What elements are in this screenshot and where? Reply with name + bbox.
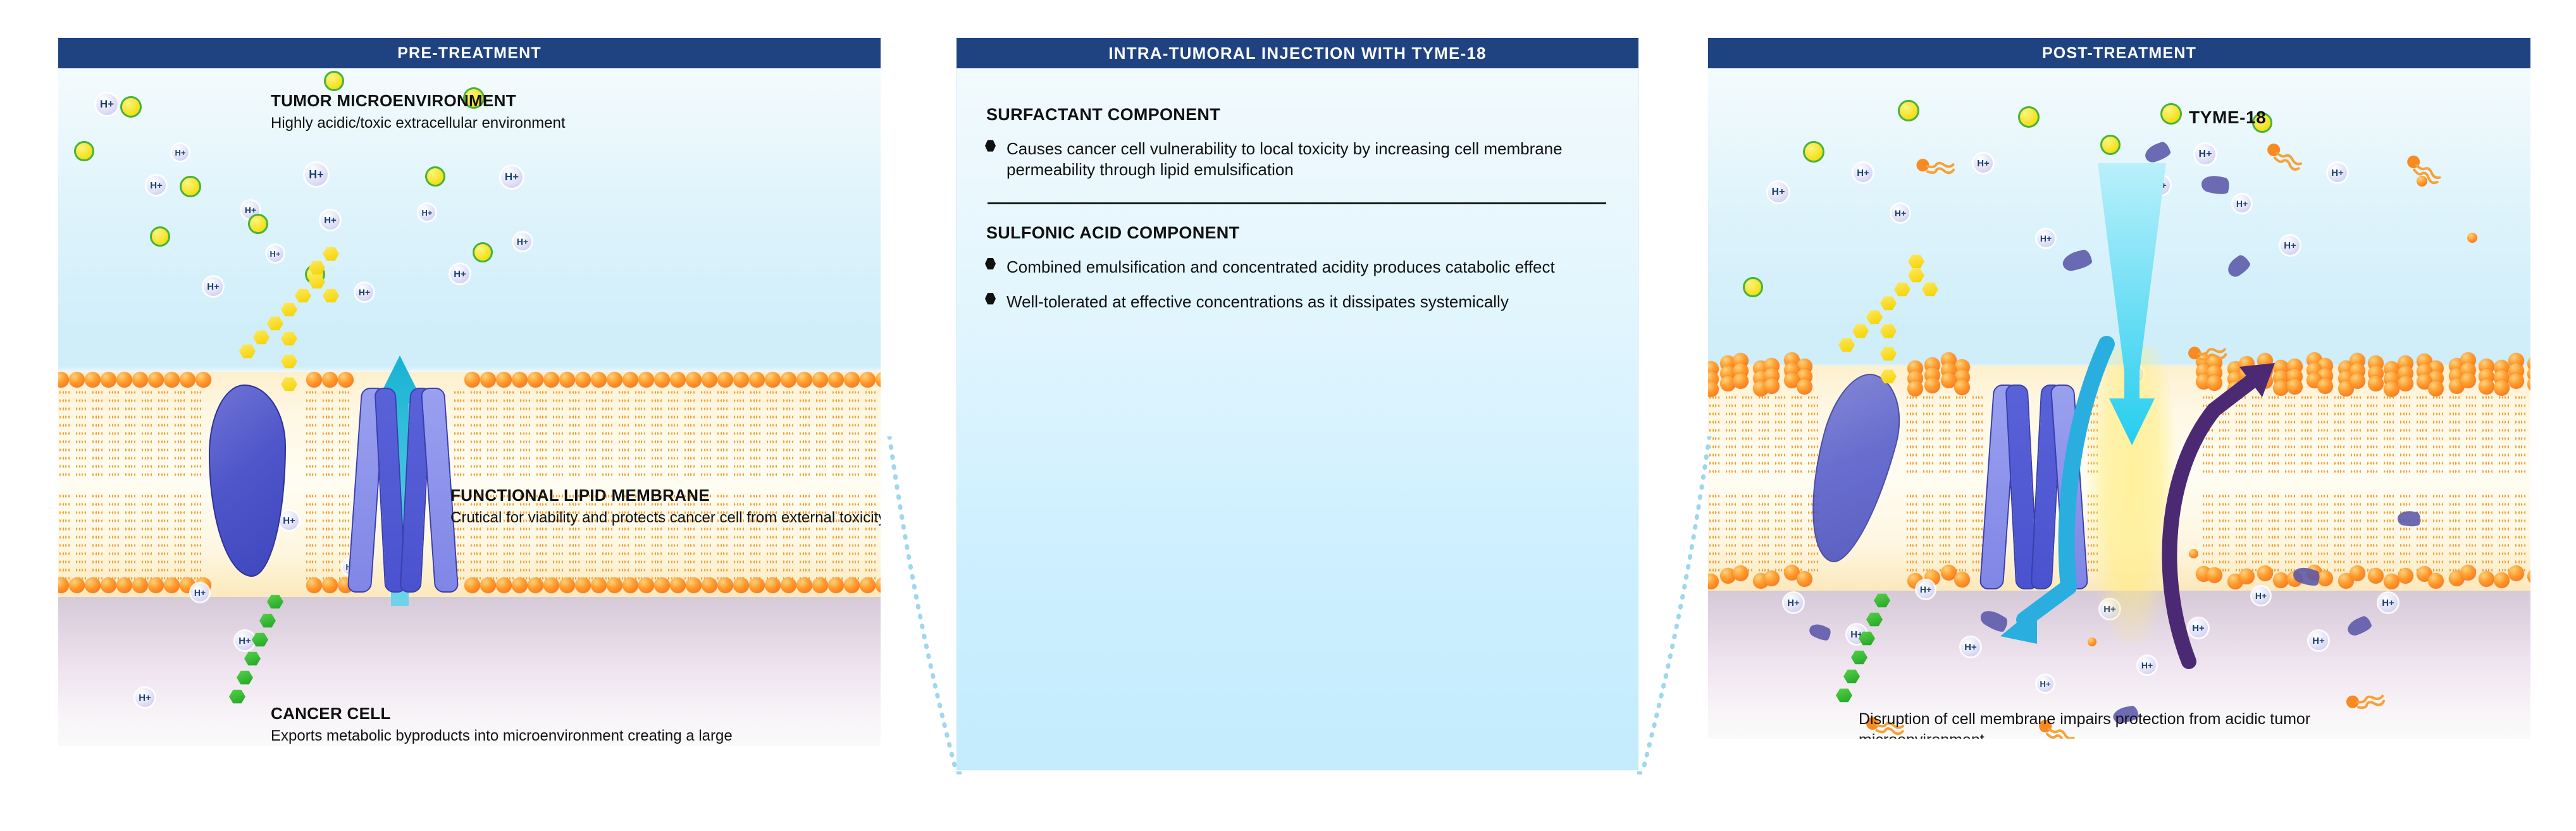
yellow-molecule-dot-icon — [425, 166, 445, 187]
lipid-head-icon — [1797, 379, 1812, 395]
lipid-head-icon — [860, 372, 876, 388]
lipid-tail-icon — [65, 388, 70, 477]
proton-channel-icon — [354, 388, 449, 590]
post-caption-text: Disruption of cell membrane impairs prot… — [1859, 709, 2339, 739]
list-item: Causes cancer cell vulnerability to loca… — [985, 138, 1610, 181]
yellow-hex-unit-icon — [323, 288, 339, 303]
lipid-head-icon — [622, 372, 638, 388]
lipid-head-icon — [749, 577, 765, 593]
lipid-head-icon — [559, 577, 575, 593]
protein-fragment-icon — [2143, 140, 2172, 164]
lipid-tail-icon — [635, 388, 640, 477]
lipid-head-icon — [686, 372, 702, 388]
lipid-head-icon — [2317, 570, 2333, 586]
lipid-tail-icon — [855, 388, 859, 477]
yellow-hex-unit-icon — [239, 344, 256, 359]
lipid-tail-icon — [487, 388, 492, 477]
lipid-tail-icon — [1972, 393, 1977, 476]
yellow-molecule-dot-icon — [180, 176, 201, 197]
lipid-head-icon — [528, 577, 543, 593]
yellow-hex-unit-icon — [323, 247, 339, 261]
yellow-molecule-dot-icon — [150, 226, 170, 247]
proton-ion-badge: H+ — [1917, 581, 1935, 598]
yellow-molecule-dot-icon — [1743, 277, 1763, 297]
lipid-tail-icon — [1775, 393, 1780, 476]
lipid-tail-icon — [619, 388, 623, 477]
lipid-head-icon — [306, 577, 322, 593]
lipid-tail-icon — [1775, 492, 1780, 574]
lipid-head-icon — [670, 577, 686, 593]
lipid-head-icon — [2508, 565, 2524, 581]
proton-ion-badge: H+ — [2195, 144, 2215, 164]
lipid-tail-icon — [125, 492, 130, 581]
lipid-head-icon — [2384, 574, 2400, 589]
lipid-head-icon — [322, 372, 338, 388]
lipid-head-icon — [876, 577, 881, 593]
lipid-tail-icon — [471, 388, 475, 477]
lipid-head-icon — [860, 577, 876, 593]
lipid-head-icon — [338, 372, 354, 388]
lipid-tail-icon — [92, 492, 97, 581]
lipid-tail-icon — [59, 492, 64, 581]
lipid-head-icon — [812, 577, 828, 593]
lipid-tail-icon — [789, 388, 793, 477]
lipid-bilayer-membrane — [58, 372, 881, 597]
lipid-tail-icon — [2482, 393, 2487, 476]
proton-ion-badge: H+ — [280, 511, 299, 530]
lipid-tail-icon — [180, 492, 185, 581]
lipid-tail-icon — [1940, 492, 1944, 574]
lipid-tail-icon — [1956, 393, 1960, 476]
lipid-head-icon — [2350, 565, 2365, 581]
lipid-tail-icon — [805, 388, 810, 477]
lipid-head-icon — [85, 577, 101, 593]
lipid-tail-icon — [2505, 492, 2509, 574]
lipid-head-icon — [559, 372, 575, 388]
yellow-hex-unit-icon — [1852, 324, 1869, 338]
green-hex-unit-icon — [244, 651, 261, 666]
lipid-tail-icon — [849, 388, 853, 477]
lipid-tail-icon — [1715, 492, 1719, 574]
lipid-head-icon — [2317, 378, 2333, 394]
yellow-molecule-dot-icon — [1803, 141, 1824, 163]
lipid-tail-icon — [526, 388, 530, 477]
cancer-cell-title: CANCER CELL — [271, 704, 739, 724]
lipid-tail-icon — [2324, 492, 2328, 574]
lipid-head-icon — [607, 577, 622, 593]
lipid-tail-icon — [734, 388, 738, 477]
lipid-tail-icon — [1797, 393, 1802, 476]
lipid-tail-icon — [131, 492, 135, 581]
lipid-tail-icon — [460, 388, 464, 477]
lipid-tail-icon — [641, 388, 645, 477]
lipid-head-icon — [812, 372, 828, 388]
section-divider — [988, 202, 1606, 204]
lipid-tail-icon — [701, 388, 705, 477]
yellow-hex-unit-icon — [1880, 347, 1897, 361]
protein-fragment-icon — [1807, 621, 1833, 643]
proton-ion-badge: H+ — [356, 283, 373, 301]
lipid-head-icon — [796, 577, 812, 593]
proton-ion-badge: H+ — [2233, 195, 2251, 212]
lipid-tail-icon — [1748, 393, 1752, 476]
lipid-tail-icon — [553, 388, 557, 477]
lipid-head-icon — [781, 372, 796, 388]
lipid-head-icon — [702, 577, 717, 593]
lipid-tail-icon — [158, 388, 163, 477]
yellow-hex-unit-icon — [1880, 296, 1897, 311]
lipid-head-icon — [591, 372, 607, 388]
lipid-tail-icon — [2521, 492, 2525, 574]
lipid-head-icon — [2428, 573, 2444, 589]
lipid-tail-icon — [493, 388, 497, 477]
lipid-tail-icon — [339, 388, 344, 477]
lipid-tail-icon — [92, 388, 97, 477]
proton-ion-badge: H+ — [501, 166, 523, 188]
lipid-head-icon — [464, 577, 480, 593]
lipid-tail-icon — [2455, 393, 2460, 476]
lipid-head-icon — [575, 577, 591, 593]
lipid-head-icon — [116, 577, 132, 593]
bullet-hex-icon — [985, 257, 1006, 278]
lipid-tail-icon — [1759, 393, 1763, 476]
lipid-tail-icon — [2472, 393, 2476, 476]
proton-ion-badge: H+ — [514, 233, 531, 250]
lipid-head-icon — [496, 372, 512, 388]
panel-pre-treatment: PRE-TREATMENT H+H+H+H+H+H+H+H+H+H+H+H+H+… — [58, 38, 881, 746]
yellow-hex-unit-icon — [1838, 338, 1855, 352]
yellow-hex-unit-icon — [1908, 268, 1924, 283]
lipid-tail-icon — [1923, 393, 1928, 476]
lipid-tail-icon — [59, 388, 64, 477]
lipid-tail-icon — [2488, 492, 2492, 574]
green-hex-unit-icon — [1843, 669, 1860, 684]
proton-ion-badge: H+ — [2037, 675, 2053, 692]
lipid-tail-icon — [591, 388, 596, 477]
section-title-sulfonic: SULFONIC ACID COMPONENT — [986, 223, 1610, 243]
lipid-tail-icon — [2499, 492, 2503, 574]
yellow-molecule-dot-icon — [120, 96, 142, 118]
lipid-tail-icon — [1929, 393, 1933, 476]
lipid-head-icon — [480, 577, 496, 593]
lipid-tail-icon — [2400, 393, 2405, 476]
lipid-tail-icon — [2515, 492, 2520, 574]
lipid-tail-icon — [1742, 492, 1747, 574]
lipid-tail-icon — [2351, 492, 2355, 574]
lipid-tail-icon — [175, 388, 179, 477]
lipid-tail-icon — [158, 492, 163, 581]
lipid-tail-icon — [2505, 393, 2509, 476]
bullet-text: Causes cancer cell vulnerability to loca… — [1006, 138, 1610, 181]
lipid-tail-icon — [717, 388, 722, 477]
lipid-tail-icon — [312, 492, 316, 581]
lipid-head-icon — [85, 372, 101, 388]
lipid-head-icon — [844, 577, 860, 593]
lipid-tail-icon — [2318, 492, 2322, 574]
lipid-tail-icon — [2406, 492, 2410, 574]
lipid-tail-icon — [109, 388, 113, 477]
lipid-tail-icon — [1781, 492, 1785, 574]
lipid-head-icon — [733, 372, 749, 388]
panel-mid-header: INTRA-TUMORAL INJECTION WITH TYME-18 — [957, 38, 1638, 68]
lipid-tail-icon — [306, 492, 311, 581]
yellow-hex-unit-icon — [1894, 282, 1910, 297]
green-hex-unit-icon — [1836, 688, 1852, 703]
lipid-head-icon — [148, 372, 164, 388]
lipid-tail-icon — [131, 388, 135, 477]
proton-ion-badge: H+ — [235, 631, 254, 650]
lipid-head-icon — [2527, 569, 2530, 584]
lipid-tail-icon — [164, 492, 168, 581]
proton-ion-badge: H+ — [191, 584, 209, 601]
lipid-tail-icon — [2367, 492, 2372, 574]
lipid-head-icon — [702, 372, 717, 388]
panel-pre-header: PRE-TREATMENT — [58, 38, 881, 68]
lipid-tail-icon — [1715, 393, 1719, 476]
free-phospholipid-icon — [2262, 141, 2305, 176]
lipid-head-icon — [180, 372, 195, 388]
lipid-tail-icon — [2417, 393, 2421, 476]
connector-left-dotted — [886, 436, 962, 778]
lipid-head-icon — [58, 372, 69, 388]
lipid-tail-icon — [1912, 492, 1917, 574]
lipid-tail-icon — [164, 388, 168, 477]
tyme18-label: TYME-18 — [2189, 108, 2266, 128]
lipid-tail-icon — [1929, 492, 1933, 574]
lipid-tail-icon — [2449, 393, 2454, 476]
lipid-head-icon — [717, 577, 733, 593]
proton-ion-badge: H+ — [1961, 637, 1980, 656]
free-phospholipid-icon — [1913, 149, 1958, 188]
lipid-head-icon — [2494, 572, 2510, 588]
lipid-tail-icon — [2515, 393, 2520, 476]
lipid-tail-icon — [1792, 492, 1796, 574]
lipid-head-icon — [528, 372, 543, 388]
green-hex-unit-icon — [237, 670, 253, 685]
green-hex-unit-icon — [252, 632, 268, 647]
bullet-text: Combined emulsification and concentrated… — [1006, 257, 1610, 278]
lipid-tail-icon — [509, 388, 514, 477]
lipid-tail-icon — [109, 492, 113, 581]
panel-injection: INTRA-TUMORAL INJECTION WITH TYME-18 SUR… — [957, 38, 1638, 770]
lipid-head-icon — [1733, 565, 1749, 581]
yellow-hex-unit-icon — [1908, 254, 1924, 269]
lipid-tail-icon — [2466, 393, 2470, 476]
lipid-tail-icon — [569, 388, 574, 477]
section-title-surfactant: SURFACTANT COMPONENT — [986, 105, 1610, 125]
lipid-tail-icon — [684, 388, 689, 477]
lipid-tail-icon — [2439, 393, 2443, 476]
lipid-tail-icon — [772, 388, 777, 477]
label-functional-lipid-membrane: FUNCTIONAL LIPID MEMBRANE Crutical for v… — [450, 486, 881, 527]
panel-mid-title: INTRA-TUMORAL INJECTION WITH TYME-18 — [1108, 44, 1486, 63]
panel-post-title: POST-TREATMENT — [2042, 44, 2196, 63]
yellow-molecule-dot-icon — [2100, 135, 2121, 155]
proton-ion-badge: H+ — [2037, 230, 2055, 247]
yellow-molecule-dot-icon — [1898, 100, 1919, 121]
lipid-tail-icon — [2334, 492, 2339, 574]
lipid-tail-icon — [1797, 492, 1802, 574]
lipid-tail-icon — [2373, 393, 2377, 476]
panel-pre-body: H+H+H+H+H+H+H+H+H+H+H+H+H+H+H+H+H+H+H+ T… — [58, 68, 881, 746]
lipid-head-icon — [796, 372, 812, 388]
lipid-tail-icon — [1808, 492, 1812, 574]
lipid-tail-icon — [2482, 492, 2487, 574]
lipid-head-icon — [749, 372, 765, 388]
lipid-tail-icon — [624, 388, 629, 477]
lipid-head-icon — [116, 372, 132, 388]
lipid-tail-icon — [1726, 393, 1730, 476]
lipid-tail-icon — [197, 492, 201, 581]
yellow-hex-unit-icon — [281, 354, 297, 369]
lipid-tail-icon — [652, 388, 656, 477]
lipid-head-icon — [306, 372, 322, 388]
label-cancer-cell: CANCER CELL Exports metabolic byproducts… — [271, 704, 739, 746]
lipid-head-icon — [543, 372, 559, 388]
lipid-tail-icon — [723, 388, 728, 477]
lipid-head-icon — [575, 372, 591, 388]
lipid-head-icon — [1924, 378, 1940, 393]
lipid-tail-icon — [2422, 492, 2427, 574]
lipid-head-icon — [2460, 372, 2476, 388]
proton-ion-badge: H+ — [2379, 593, 2398, 612]
lipid-tail-icon — [2439, 492, 2443, 574]
proton-ion-badge: H+ — [1892, 204, 1909, 222]
lipid-tail-icon — [2318, 393, 2322, 476]
lipid-head-icon — [686, 577, 702, 593]
lipid-tail-icon — [82, 492, 86, 581]
lipid-tail-icon — [2373, 492, 2377, 574]
lipid-tail-icon — [1962, 492, 1966, 574]
lipid-tail-icon — [142, 492, 146, 581]
yellow-molecule-dot-icon — [74, 141, 94, 161]
lipid-tail-icon — [1945, 393, 1950, 476]
lipid-head-icon — [101, 372, 116, 388]
lipid-head-icon — [132, 577, 148, 593]
cancer-cell-desc: Exports metabolic byproducts into microe… — [271, 726, 739, 746]
lipid-head-icon — [670, 372, 686, 388]
lipid-tail-icon — [2521, 393, 2525, 476]
lipid-head-icon — [480, 372, 496, 388]
yellow-molecule-dot-icon — [2160, 103, 2182, 125]
lipid-tail-icon — [2384, 393, 2388, 476]
lipid-tail-icon — [312, 388, 316, 477]
lipid-head-icon — [2350, 373, 2365, 389]
lipid-head-icon — [1797, 571, 1812, 587]
green-hex-unit-icon — [259, 613, 276, 628]
lipid-tail-icon — [822, 388, 826, 477]
lipid-tail-icon — [602, 388, 607, 477]
green-hex-unit-icon — [1874, 593, 1890, 608]
lipid-head-icon — [654, 372, 670, 388]
lipid-tail-icon — [2433, 492, 2437, 574]
yellow-hex-unit-icon — [1880, 324, 1897, 338]
lipid-tail-icon — [1759, 492, 1763, 574]
lipid-tail-icon — [1731, 393, 1736, 476]
lipid-tail-icon — [2356, 393, 2361, 476]
lipid-tail-icon — [191, 492, 195, 581]
lipid-tail-icon — [2400, 492, 2405, 574]
list-item: Combined emulsification and concentrated… — [985, 257, 1610, 278]
panel-pre-title: PRE-TREATMENT — [397, 44, 542, 63]
proton-ion-badge: H+ — [1784, 593, 1803, 612]
proton-ion-badge: H+ — [172, 144, 189, 161]
bullet-list-surfactant: Causes cancer cell vulnerability to loca… — [985, 138, 1610, 181]
lipid-tail-icon — [1978, 393, 1983, 476]
lipid-tail-icon — [454, 388, 459, 477]
lipid-tail-icon — [98, 388, 102, 477]
lipid-tail-icon — [536, 388, 541, 477]
lipid-head-icon — [828, 372, 844, 388]
lipid-head-icon — [781, 577, 796, 593]
lipid-tail-icon — [147, 492, 152, 581]
lipid-head-icon — [322, 577, 338, 593]
green-hex-unit-icon — [229, 689, 245, 704]
lipid-tail-icon — [2384, 492, 2388, 574]
proton-ion-badge: H+ — [1768, 182, 1788, 202]
bullet-hex-icon — [985, 292, 1006, 312]
lipid-head-icon — [512, 577, 528, 593]
panel-post-header: POST-TREATMENT — [1708, 38, 2530, 68]
connector-right-dotted — [1637, 436, 1713, 778]
lipid-head-icon — [1954, 379, 1970, 395]
yellow-molecule-dot-icon — [324, 71, 344, 91]
lipid-tail-icon — [1956, 492, 1960, 574]
lipid-head-icon — [591, 577, 607, 593]
yellow-hex-unit-icon — [253, 330, 269, 345]
lipid-tail-icon — [668, 388, 672, 477]
yellow-molecule-dot-icon — [2018, 106, 2040, 128]
free-phospholipid-icon — [2343, 681, 2390, 725]
lipid-tail-icon — [2499, 393, 2503, 476]
lipid-tail-icon — [1742, 393, 1747, 476]
yellow-molecule-dot-icon — [248, 214, 268, 234]
lipid-head-icon — [622, 577, 638, 593]
lipid-tail-icon — [756, 388, 760, 477]
lipid-tail-icon — [476, 388, 481, 477]
lipid-tail-icon — [520, 388, 524, 477]
lipid-tail-icon — [871, 388, 876, 477]
proton-ion-badge: H+ — [450, 264, 469, 283]
lipid-tail-icon — [504, 388, 508, 477]
proton-ion-badge: H+ — [305, 163, 328, 186]
lipid-tail-icon — [1907, 492, 1911, 574]
lipid-tail-icon — [833, 388, 837, 477]
lipid-tail-icon — [1764, 492, 1769, 574]
lipid-tail-icon — [142, 388, 146, 477]
lipid-tail-icon — [2324, 393, 2328, 476]
lipid-tail-icon — [690, 388, 695, 477]
lipid-tail-icon — [115, 492, 119, 581]
lipid-efflux-arrow-icon — [2145, 315, 2309, 669]
lipid-tail-icon — [2340, 492, 2344, 574]
lipid-head-icon — [638, 372, 654, 388]
lipid-tail-icon — [76, 492, 80, 581]
proton-ion-badge: H+ — [419, 204, 435, 221]
list-item: Well-tolerated at effective concentratio… — [985, 292, 1610, 312]
lipid-tail-icon — [147, 388, 152, 477]
lipid-tail-icon — [197, 388, 201, 477]
lipid-head-icon — [844, 372, 860, 388]
lipid-head-icon — [765, 372, 781, 388]
bullet-list-sulfonic: Combined emulsification and concentrated… — [985, 257, 1610, 313]
proton-ion-badge: H+ — [2328, 163, 2347, 182]
yellow-hex-unit-icon — [267, 316, 283, 331]
lipid-head-icon — [2368, 376, 2384, 391]
lipid-head-icon — [164, 372, 180, 388]
lipid-tail-icon — [306, 388, 311, 477]
lipid-head-icon — [638, 577, 654, 593]
